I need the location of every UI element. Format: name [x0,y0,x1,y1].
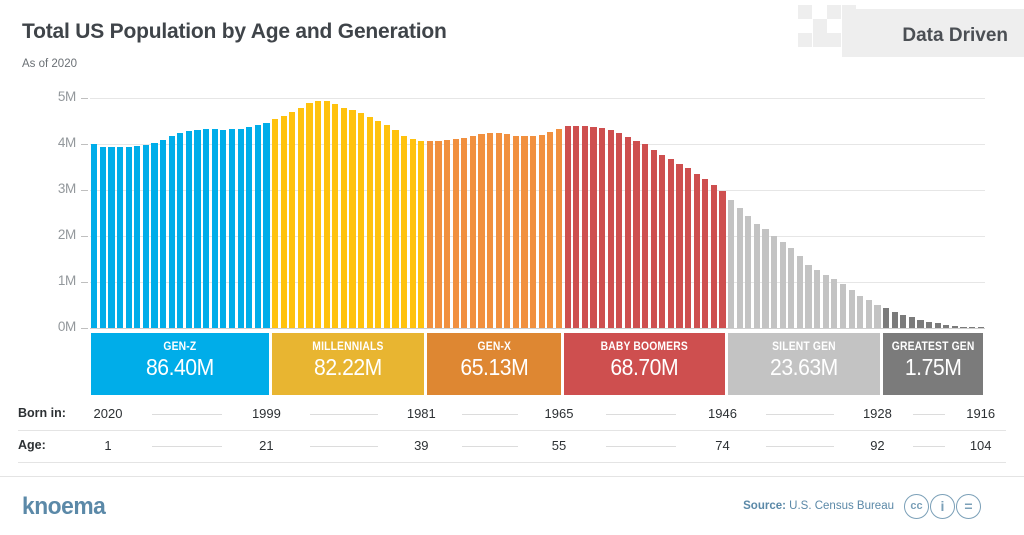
bar [685,168,691,328]
cc-icon[interactable]: cc [904,494,929,519]
axis-connector-line [766,414,834,415]
bar [513,136,519,329]
bar [771,236,777,328]
bar [805,265,811,328]
axis-connector-line [310,414,378,415]
bar [358,113,364,328]
bar [220,130,226,328]
y-axis-tick-label: 0M [32,319,76,334]
bar [599,128,605,328]
x-axis-line [90,328,985,329]
bar [625,137,631,328]
age-value: 92 [851,438,903,453]
bar [608,130,614,328]
checker-cell [798,5,812,19]
checker-cell [827,5,841,19]
bar [651,150,657,328]
bar [642,144,648,328]
bar [659,155,665,328]
knoema-logo[interactable]: knoema [22,493,105,521]
generation-legend-block[interactable]: GREATEST GEN1.75M [883,333,983,395]
bar [556,129,562,328]
axis-connector-line [913,446,944,447]
bar [126,147,132,328]
generation-legend-block[interactable]: MILLENNIALS82.22M [272,333,424,395]
bar [926,322,932,328]
generation-total-value: 1.75M [887,354,979,381]
bar [427,141,433,328]
bar [676,164,682,328]
bar [900,315,906,328]
generation-legend-block[interactable]: SILENT GEN23.63M [728,333,880,395]
generation-total-value: 68.70M [571,354,719,381]
bar [917,320,923,328]
bar [444,140,450,328]
bar [487,133,493,328]
bar [565,126,571,328]
bar [633,141,639,328]
axis-connector-line [152,446,222,447]
header: Data Driven Total US Population by Age a… [0,0,1024,78]
bar [539,135,545,328]
y-axis-tick-mark [81,328,88,329]
bar [263,123,269,328]
born-in-value: 1928 [851,406,903,421]
row-divider-top [18,430,1006,431]
bar [461,138,467,328]
born-in-value: 1965 [533,406,585,421]
bar [504,134,510,328]
y-axis-tick-mark [81,236,88,237]
bar [582,126,588,328]
creative-commons-icon-group: cci= [904,494,1008,520]
y-axis-tick-mark [81,98,88,99]
bar [762,229,768,328]
born-in-value: 1946 [697,406,749,421]
y-axis-tick-label: 3M [32,181,76,196]
bar [530,136,536,328]
bar [169,136,175,328]
bar [298,108,304,328]
bar [91,144,97,328]
bar [186,131,192,328]
bar [203,129,209,328]
axis-connector-line [152,414,222,415]
bar [160,140,166,328]
generation-name: GEN-X [436,339,552,353]
generation-total-value: 86.40M [98,354,262,381]
footer: knoema Source: U.S. Census Bureau cci= [0,476,1024,535]
bar [711,185,717,328]
bar [547,132,553,328]
bar [874,305,880,328]
bar [573,126,579,328]
bar [883,308,889,328]
bar [281,116,287,328]
bar [960,327,966,328]
bar [952,326,958,328]
bar [496,133,502,328]
generation-legend-block[interactable]: GEN-X65.13M [427,333,562,395]
generation-legend-block[interactable]: GEN-Z86.40M [91,333,269,395]
generation-name: GEN-Z [103,339,256,353]
bar [788,248,794,328]
bar [780,242,786,328]
generation-name: SILENT GEN [738,339,869,353]
bar [401,136,407,329]
bar [719,191,725,328]
bar [728,200,734,328]
bar [435,141,441,328]
bar [857,296,863,328]
bar [969,327,975,328]
bar [392,130,398,328]
y-axis-tick-mark [81,282,88,283]
page-title: Total US Population by Age and Generatio… [22,20,447,44]
bar [384,125,390,328]
age-row-label: Age: [18,438,46,452]
bar [943,325,949,328]
bar [470,136,476,328]
bar [909,317,915,328]
axis-connector-line [462,414,518,415]
bar [668,159,674,328]
bar [229,129,235,328]
generation-legend-strip: GEN-Z86.40MMILLENNIALS82.22MGEN-X65.13MB… [90,333,985,395]
bar [849,290,855,328]
bar [332,104,338,328]
age-value: 74 [697,438,749,453]
bar [410,139,416,328]
age-value: 21 [240,438,292,453]
bar [935,323,941,328]
y-axis-tick-label: 2M [32,227,76,242]
checker-cell [813,33,827,47]
checker-cell [813,19,827,33]
bar [255,125,261,328]
bar [341,108,347,328]
bar [590,127,596,328]
checker-cell [798,33,812,47]
y-axis-tick-label: 1M [32,273,76,288]
bar [797,256,803,328]
axis-connector-line [462,446,518,447]
infographic-page: Data Driven Total US Population by Age a… [0,0,1024,535]
y-axis-tick-label: 4M [32,135,76,150]
bar [453,139,459,328]
generation-total-value: 23.63M [734,354,874,381]
bar [143,145,149,328]
y-axis-tick-mark [81,144,88,145]
bar [616,133,622,328]
bar [212,129,218,328]
bar [306,103,312,328]
bar [324,101,330,328]
generation-name: BABY BOOMERS [576,339,714,353]
born-in-value: 1999 [240,406,292,421]
age-value: 104 [955,438,1007,453]
bar [272,119,278,328]
bar [478,134,484,328]
generation-name: GREATEST GEN [890,339,976,353]
gridline [90,98,985,99]
by-person-icon[interactable]: i [930,494,955,519]
bar [289,112,295,328]
page-subtitle: As of 2020 [22,58,77,70]
bar-chart-plot-area [90,98,985,328]
bar [117,147,123,328]
source-label: Source: [743,500,786,512]
bar [134,146,140,328]
bar [246,127,252,328]
bar [177,133,183,328]
bar [823,275,829,328]
y-axis-tick-mark [81,190,88,191]
axis-label-rows: Born in: Age: 20201999198119651946192819… [0,402,1024,468]
bar [694,174,700,328]
axis-connector-line [913,414,944,415]
bar [367,117,373,328]
axis-connector-line [310,446,378,447]
bar [521,136,527,328]
bar [315,101,321,328]
age-value: 1 [82,438,134,453]
bar [108,147,114,328]
born-in-row-label: Born in: [18,406,66,420]
equals-icon[interactable]: = [956,494,981,519]
bar [978,327,984,328]
bar [814,270,820,328]
bar [840,284,846,328]
row-divider-bottom [18,462,1006,463]
brand-badge-label: Data Driven [902,25,1008,47]
generation-total-value: 65.13M [432,354,556,381]
generation-legend-block[interactable]: BABY BOOMERS68.70M [564,333,725,395]
bar [745,216,751,328]
bar [702,179,708,328]
generation-name: MILLENNIALS [282,339,413,353]
axis-connector-line [606,414,676,415]
axis-connector-line [606,446,676,447]
born-in-value: 2020 [82,406,134,421]
age-value: 39 [395,438,447,453]
source-value: U.S. Census Bureau [789,500,894,512]
bar [866,300,872,328]
bar [238,129,244,328]
bar [754,224,760,328]
bar [375,121,381,328]
generation-total-value: 82.22M [278,354,418,381]
age-value: 55 [533,438,585,453]
y-axis-tick-label: 5M [32,89,76,104]
bar [737,208,743,328]
checker-cell [827,33,841,47]
bar [194,130,200,328]
bar [100,147,106,328]
born-in-value: 1916 [955,406,1007,421]
bar [831,279,837,328]
bar [151,143,157,328]
source-attribution: Source: U.S. Census Bureau [743,500,894,512]
born-in-value: 1981 [395,406,447,421]
axis-connector-line [766,446,834,447]
bar [349,110,355,328]
bar [418,141,424,328]
bar [892,312,898,328]
